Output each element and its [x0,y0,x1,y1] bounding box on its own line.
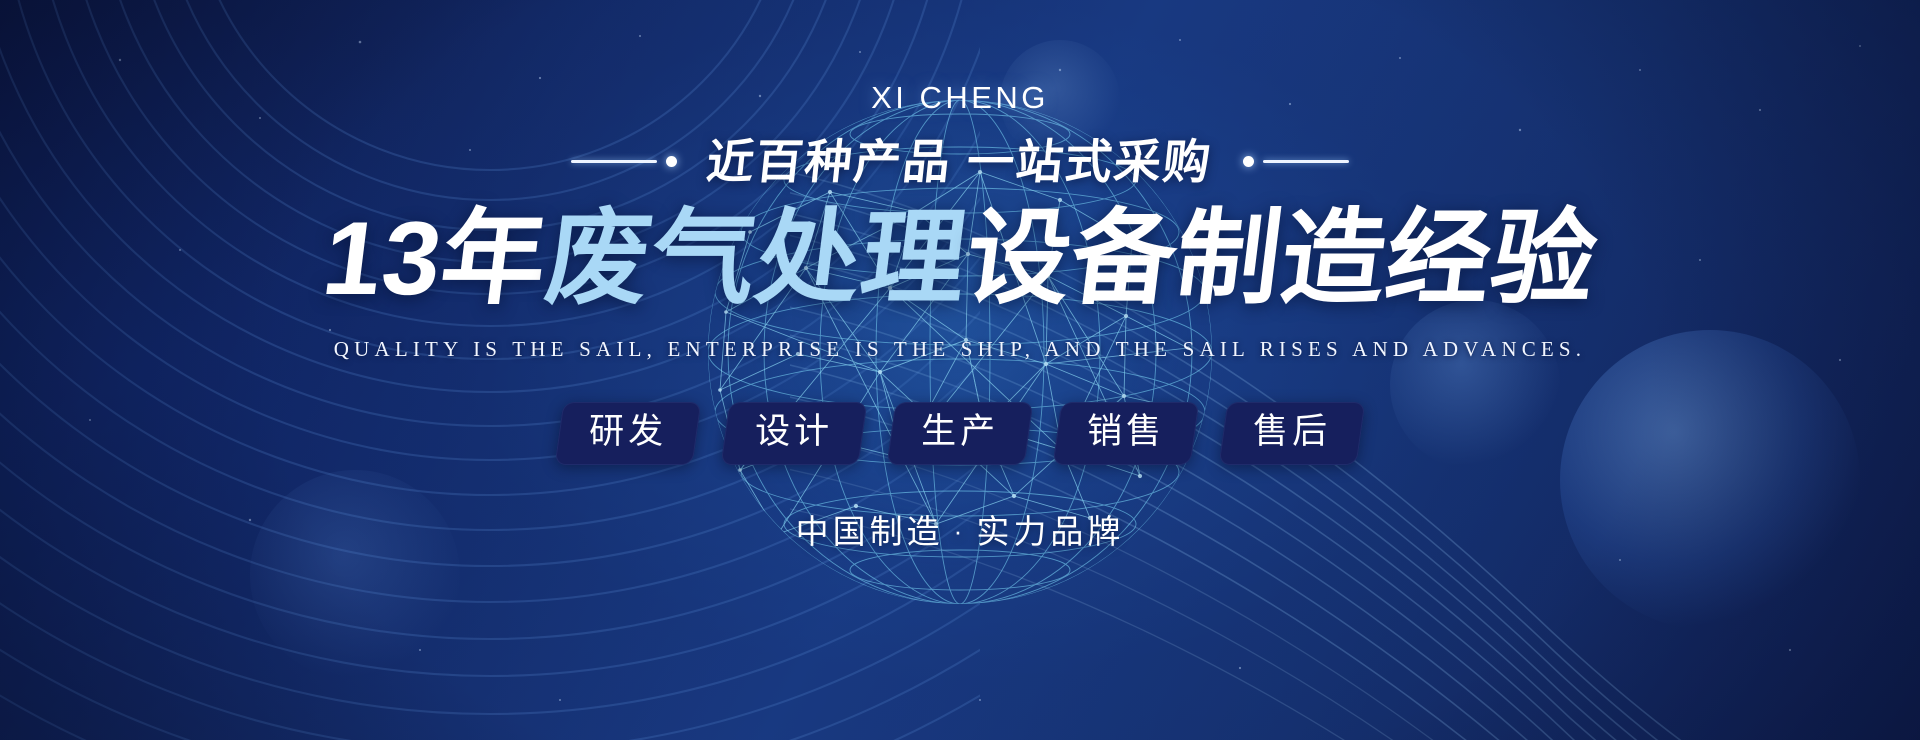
page-title: 13年废气处理设备制造经验 [316,198,1604,321]
service-pill-sales[interactable]: 销售 [1053,402,1200,465]
footer-tagline-left: 中国制造 [796,513,944,550]
hero-banner: XI CHENG 近百种产品 一站式采购 13年废气处理设备制造经验 QUALI… [0,0,1920,740]
brand-name-en: XI CHENG [871,82,1049,113]
headline-highlight: 废气处理 [539,201,973,317]
rule-bar-icon [1263,160,1349,163]
tagline-en: QUALITY IS THE SAIL, ENTERPRISE IS THE S… [334,337,1587,362]
service-pill-row: 研发 设计 生产 销售 售后 [559,402,1361,465]
service-pill-rnd[interactable]: 研发 [555,402,702,465]
service-pill-label: 研发 [589,413,667,452]
left-rule-decoration [571,156,677,167]
rule-dot-icon [1243,156,1254,167]
service-pill-aftersales[interactable]: 售后 [1219,402,1366,465]
subheadline-row: 近百种产品 一站式采购 [571,137,1348,186]
service-pill-label: 生产 [921,413,999,452]
subheadline: 近百种产品 一站式采购 [705,137,1215,186]
service-pill-label: 设计 [755,413,833,452]
right-rule-decoration [1243,156,1349,167]
banner-content: XI CHENG 近百种产品 一站式采购 13年废气处理设备制造经验 QUALI… [0,0,1920,740]
service-pill-design[interactable]: 设计 [721,402,868,465]
footer-separator: · [954,516,967,546]
service-pill-label: 售后 [1253,413,1331,452]
service-pill-label: 销售 [1087,413,1165,452]
footer-tagline: 中国制造·实力品牌 [796,505,1125,553]
headline-part-2: 设备制造经验 [959,201,1603,317]
rule-dot-icon [666,156,677,167]
headline-part-1: 13年 [317,201,554,317]
service-pill-production[interactable]: 生产 [887,402,1034,465]
rule-bar-icon [571,160,657,163]
footer-tagline-right: 实力品牌 [976,513,1124,550]
